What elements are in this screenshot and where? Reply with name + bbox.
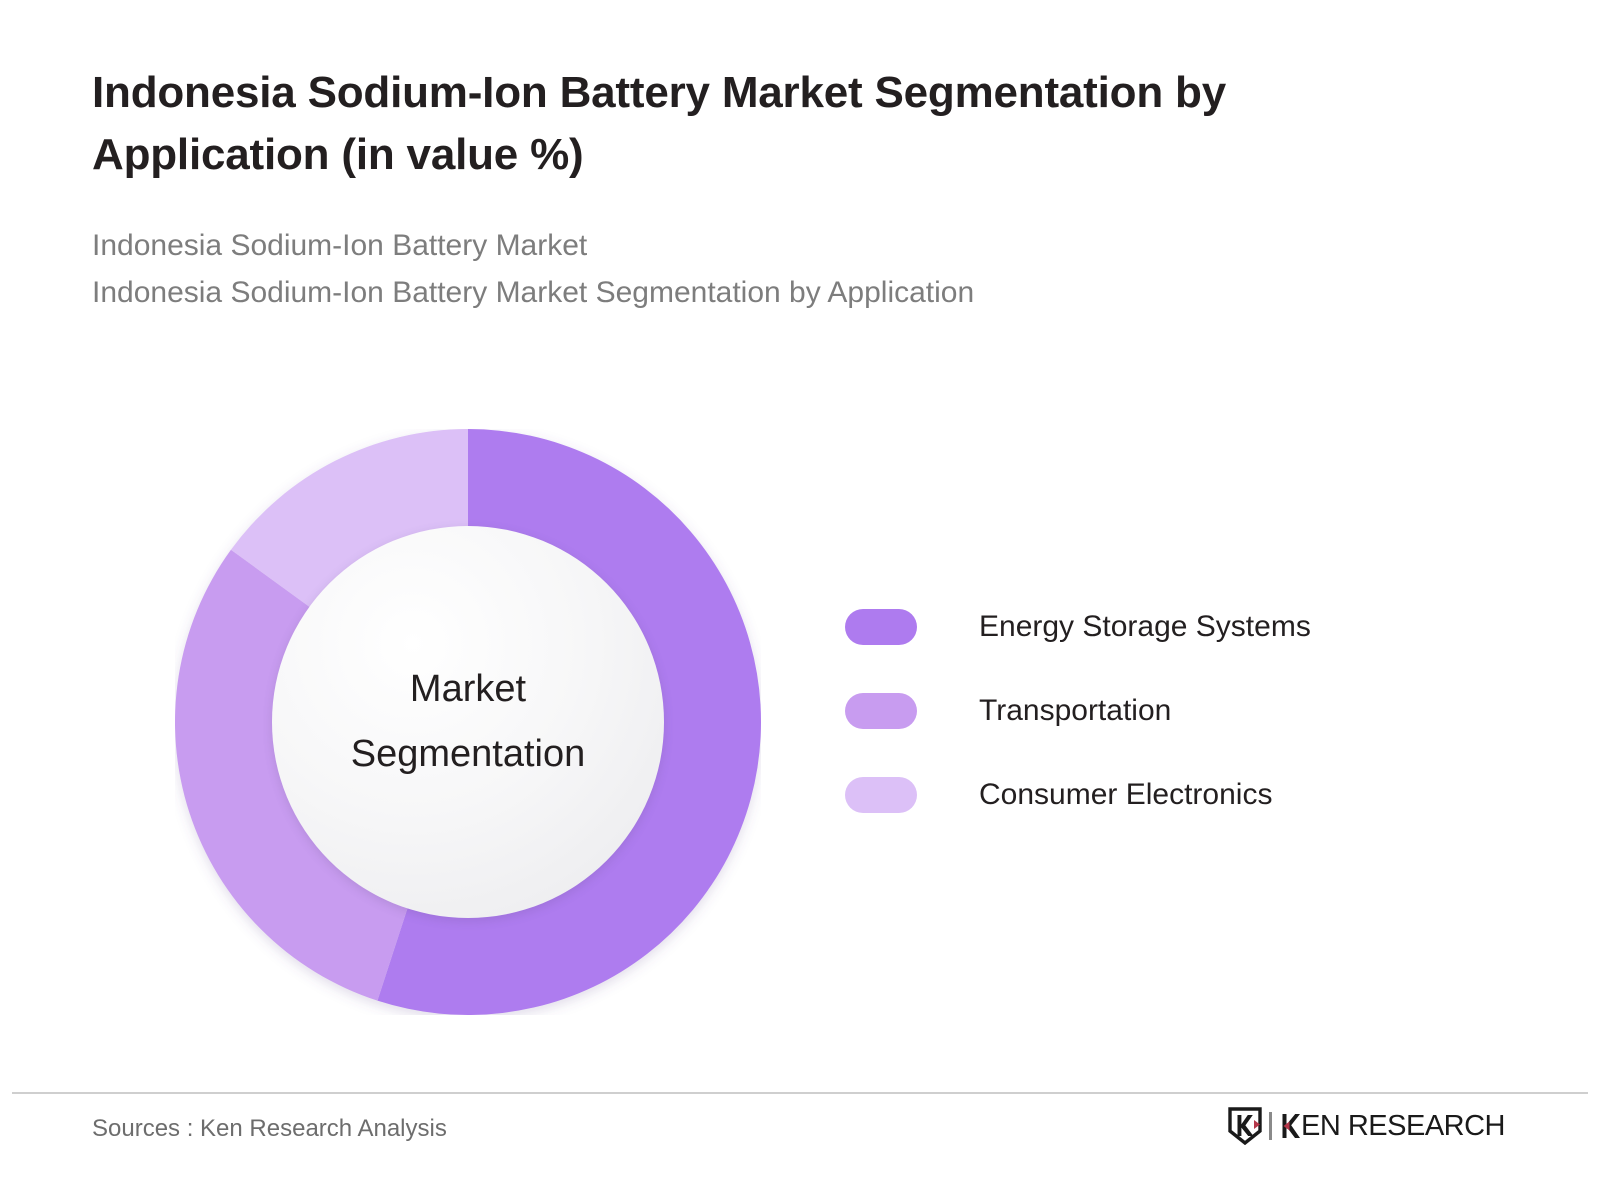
footer-divider xyxy=(12,1092,1588,1094)
chart-legend: Energy Storage Systems Transportation Co… xyxy=(845,585,1311,837)
logo-wordmark: EN RESEARCH xyxy=(1280,1110,1505,1143)
subtitle-line-segmentation: Indonesia Sodium-Ion Battery Market Segm… xyxy=(92,270,1472,317)
logo-divider xyxy=(1269,1112,1272,1140)
footer-sources-text: Sources : Ken Research Analysis xyxy=(92,1115,447,1143)
subtitle-block: Indonesia Sodium-Ion Battery Market Indo… xyxy=(92,223,1472,317)
legend-label-transportation: Transportation xyxy=(979,694,1171,728)
donut-center-line-2: Segmentation xyxy=(351,722,586,787)
donut-chart: Market Segmentation xyxy=(175,429,761,1015)
ken-research-logo: EN RESEARCH xyxy=(1228,1105,1505,1147)
logo-k-arrow-svg xyxy=(1280,1112,1300,1140)
chart-header: Indonesia Sodium-Ion Battery Market Segm… xyxy=(92,62,1472,317)
ken-shield-svg xyxy=(1228,1107,1262,1145)
ken-shield-icon xyxy=(1228,1107,1262,1145)
chart-area: Market Segmentation Energy Storage Syste… xyxy=(0,400,1600,1060)
legend-swatch-icon-consumer-electronics xyxy=(845,777,917,813)
page-title: Indonesia Sodium-Ion Battery Market Segm… xyxy=(92,62,1422,187)
legend-swatch-icon-energy-storage-systems xyxy=(845,609,917,645)
legend-item-energy-storage-systems[interactable]: Energy Storage Systems xyxy=(845,585,1311,669)
donut-center-line-1: Market xyxy=(410,657,526,722)
legend-item-transportation[interactable]: Transportation xyxy=(845,669,1311,753)
legend-label-energy-storage-systems: Energy Storage Systems xyxy=(979,610,1311,644)
logo-wordmark-text: EN RESEARCH xyxy=(1301,1110,1505,1143)
subtitle-line-market: Indonesia Sodium-Ion Battery Market xyxy=(92,223,1472,270)
legend-item-consumer-electronics[interactable]: Consumer Electronics xyxy=(845,753,1311,837)
donut-center-label: Market Segmentation xyxy=(272,526,664,918)
legend-swatch-icon-transportation xyxy=(845,693,917,729)
slide-canvas: Indonesia Sodium-Ion Battery Market Segm… xyxy=(0,0,1600,1200)
logo-k-arrow-icon xyxy=(1280,1110,1300,1143)
legend-label-consumer-electronics: Consumer Electronics xyxy=(979,778,1272,812)
